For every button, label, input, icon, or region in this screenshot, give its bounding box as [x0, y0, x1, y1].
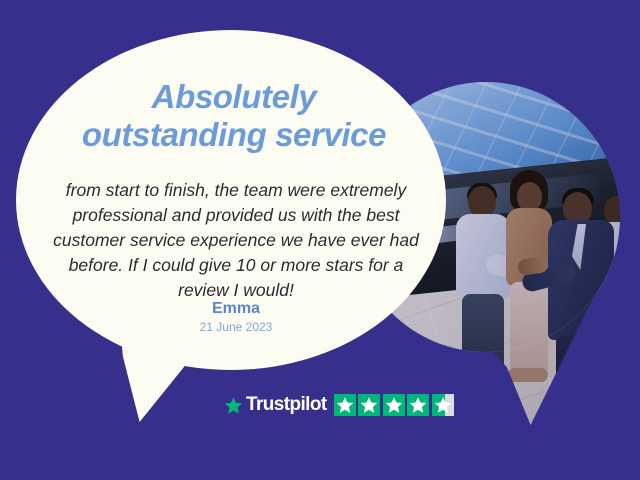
trustpilot-rating[interactable]: Trustpilot: [224, 393, 454, 417]
star-rating[interactable]: [334, 394, 454, 416]
shoe: [458, 376, 506, 392]
trustpilot-wordmark: Trustpilot: [246, 394, 327, 416]
testimonial-graphic: Absolutely outstanding service from star…: [0, 0, 640, 480]
star-4[interactable]: [407, 394, 429, 416]
review-date: 21 June 2023: [46, 320, 426, 334]
star-5[interactable]: [432, 394, 454, 416]
trustpilot-logo[interactable]: Trustpilot: [224, 394, 327, 416]
review-body: from start to finish, the team were extr…: [46, 178, 426, 303]
review-heading: Absolutely outstanding service: [58, 78, 410, 154]
review-author: Emma: [46, 300, 426, 318]
star-2[interactable]: [358, 394, 380, 416]
star-3[interactable]: [383, 394, 405, 416]
shoe: [552, 386, 602, 400]
trustpilot-star-icon: [224, 396, 243, 415]
star-1[interactable]: [334, 394, 356, 416]
